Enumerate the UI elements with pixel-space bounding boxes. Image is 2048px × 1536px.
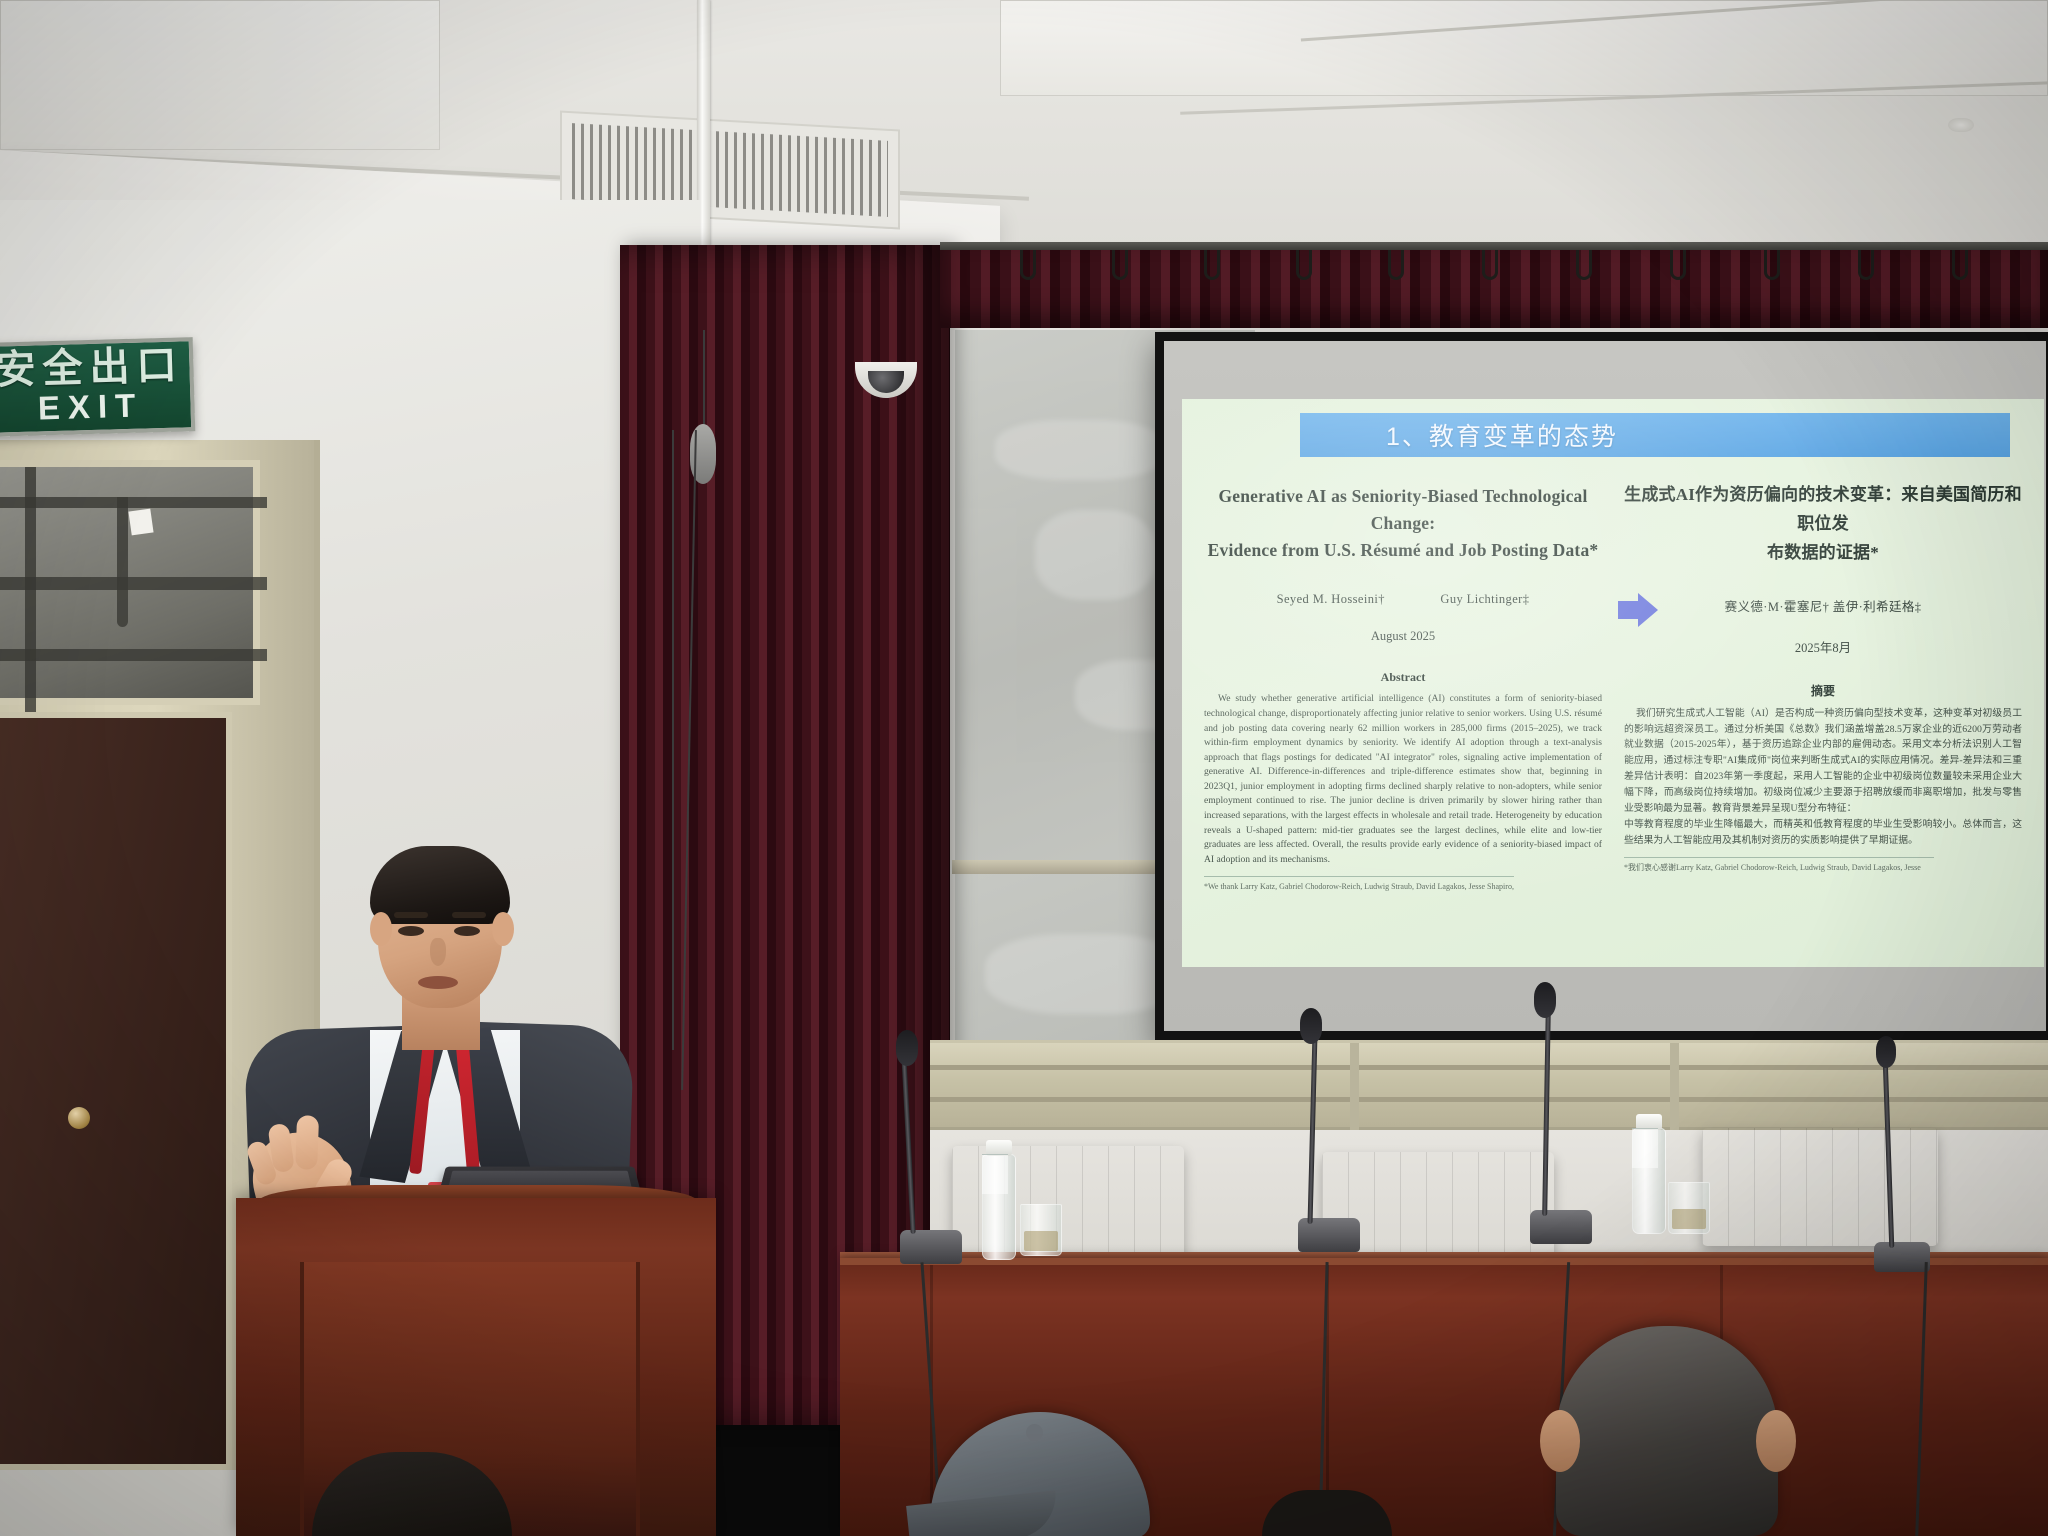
exit-sign-label-cn: 安全出口 (0, 345, 184, 390)
nose (430, 938, 446, 966)
exit-door[interactable] (0, 712, 232, 1470)
curtain-hook-icon (1482, 250, 1498, 280)
panel-chair[interactable] (1702, 1128, 1938, 1246)
paper-footnote-en: *We thank Larry Katz, Gabriel Chodorow-R… (1204, 876, 1514, 892)
paper-note (128, 509, 153, 536)
paper-title-cn-line2: 布数据的证据* (1624, 539, 2022, 568)
window-mullion (1350, 1043, 1359, 1133)
paper-date-cn: 2025年8月 (1624, 637, 2022, 656)
tea-cup[interactable] (1668, 1182, 1710, 1234)
door-transom-window (0, 460, 260, 705)
tea-cup[interactable] (1020, 1204, 1062, 1256)
projection-screen: 1、教育变革的态势 Generative AI as Seniority-Bia… (1155, 332, 2048, 1040)
lecture-hall-photo: 安全出口 EXIT 1、教育变革的态势 Generative AI as (0, 0, 2048, 1536)
transom-bar (117, 497, 128, 627)
author-1: Seyed M. Hosseini† (1277, 592, 1385, 606)
slide-column-chinese: 生成式AI作为资历偏向的技术变革：来自美国简历和职位发 布数据的证据* 赛义德·… (1624, 461, 2022, 967)
ceiling-panel (1000, 0, 2048, 96)
bottle-label (1632, 1128, 1658, 1168)
mouth (418, 976, 458, 989)
paper-title-en-line2: Evidence from U.S. Résumé and Job Postin… (1204, 537, 1602, 564)
exit-sign: 安全出口 EXIT (0, 337, 195, 437)
audience-member-gray-hair (1556, 1326, 1778, 1536)
abstract-heading-cn: 摘要 (1624, 682, 2022, 699)
eyebrow-right (452, 912, 486, 918)
desk-microphone-base (1530, 1210, 1592, 1244)
curtain-hook-icon (1112, 250, 1128, 280)
curtain-hook-icon (1388, 250, 1404, 280)
eye-right (454, 926, 480, 936)
slide-two-column-body: Generative AI as Seniority-Biased Techno… (1182, 461, 2044, 967)
paper-title-en: Generative AI as Seniority-Biased Techno… (1204, 483, 1602, 564)
curtain-hook-icon (1576, 250, 1592, 280)
exit-sign-label-en: EXIT (37, 387, 143, 428)
curtain-hook-icon (1952, 250, 1968, 280)
desk-microphone-base (900, 1230, 962, 1264)
projected-slide: 1、教育变革的态势 Generative AI as Seniority-Bia… (1182, 399, 2044, 967)
slide-column-english: Generative AI as Seniority-Biased Techno… (1204, 461, 1602, 967)
curtain-hook-icon (1296, 250, 1312, 280)
eye-left (398, 926, 424, 936)
window-mullion (1670, 1043, 1679, 1133)
transom-bar (0, 577, 267, 590)
chalk-smudge (995, 420, 1165, 480)
paper-date-en: August 2025 (1204, 629, 1602, 644)
paper-authors-en: Seyed M. Hosseini† Guy Lichtinger‡ (1204, 592, 1602, 607)
slide-title-bar: 1、教育变革的态势 (1300, 413, 2010, 457)
abstract-heading-en: Abstract (1204, 670, 1602, 685)
abstract-body-cn-2: 中等教育程度的毕业生降幅最大，而精英和低教育程度的毕业生受影响较小。总体而言，这… (1624, 817, 2022, 849)
bottle-label (982, 1154, 1008, 1194)
door-knob[interactable] (68, 1107, 90, 1129)
desk-microphone-head[interactable] (1534, 982, 1556, 1018)
ear-right (492, 912, 514, 946)
transom-bar (0, 649, 267, 661)
author-2: Guy Lichtinger‡ (1440, 592, 1529, 606)
ceiling-panel (0, 0, 440, 150)
ear-right (1756, 1410, 1796, 1472)
curtain-hook-icon (1204, 250, 1220, 280)
desk-microphone-base (1874, 1242, 1930, 1272)
transom-mullion (25, 467, 36, 712)
paper-title-en-line1: Generative AI as Seniority-Biased Techno… (1204, 483, 1602, 537)
curtain-hook-icon (1020, 250, 1036, 280)
smoke-detector-icon (1948, 118, 1974, 132)
presenter-hair (370, 846, 510, 924)
cap-button (1026, 1424, 1043, 1441)
slide-title: 1、教育变革的态势 (1386, 417, 1618, 453)
ear-left (370, 912, 392, 946)
transom-bar (0, 497, 267, 508)
desk-microphone-head[interactable] (1300, 1008, 1322, 1044)
paper-title-cn-line1: 生成式AI作为资历偏向的技术变革：来自美国简历和职位发 (1624, 481, 2022, 539)
finger (295, 1115, 319, 1170)
mic-wire (672, 430, 674, 1050)
abstract-body-en: We study whether generative artificial i… (1204, 692, 1602, 867)
curtain-hook-icon (1764, 250, 1780, 280)
chalk-smudge (1035, 510, 1155, 600)
desk-microphone-head[interactable] (1876, 1036, 1896, 1068)
paper-authors-cn: 赛义德·M·霍塞尼† 盖伊·利希廷格‡ (1624, 596, 2022, 615)
paper-footnote-cn: *我们衷心感谢Larry Katz, Gabriel Chodorow-Reic… (1624, 857, 1934, 873)
desk-microphone-head[interactable] (896, 1030, 918, 1066)
authors-cn: 赛义德·M·霍塞尼† 盖伊·利希廷格‡ (1725, 600, 1922, 614)
eyebrow-left (394, 912, 428, 918)
curtain-hook-icon (1858, 250, 1874, 280)
abstract-body-cn: 我们研究生成式人工智能（AI）是否构成一种资历偏向型技术变革，这种变革对初级员工… (1624, 706, 2022, 817)
paper-title-cn: 生成式AI作为资历偏向的技术变革：来自美国简历和职位发 布数据的证据* (1624, 481, 2022, 568)
ear-left (1540, 1410, 1580, 1472)
window-rail (930, 1097, 2048, 1102)
curtain-hook-icon (1670, 250, 1686, 280)
